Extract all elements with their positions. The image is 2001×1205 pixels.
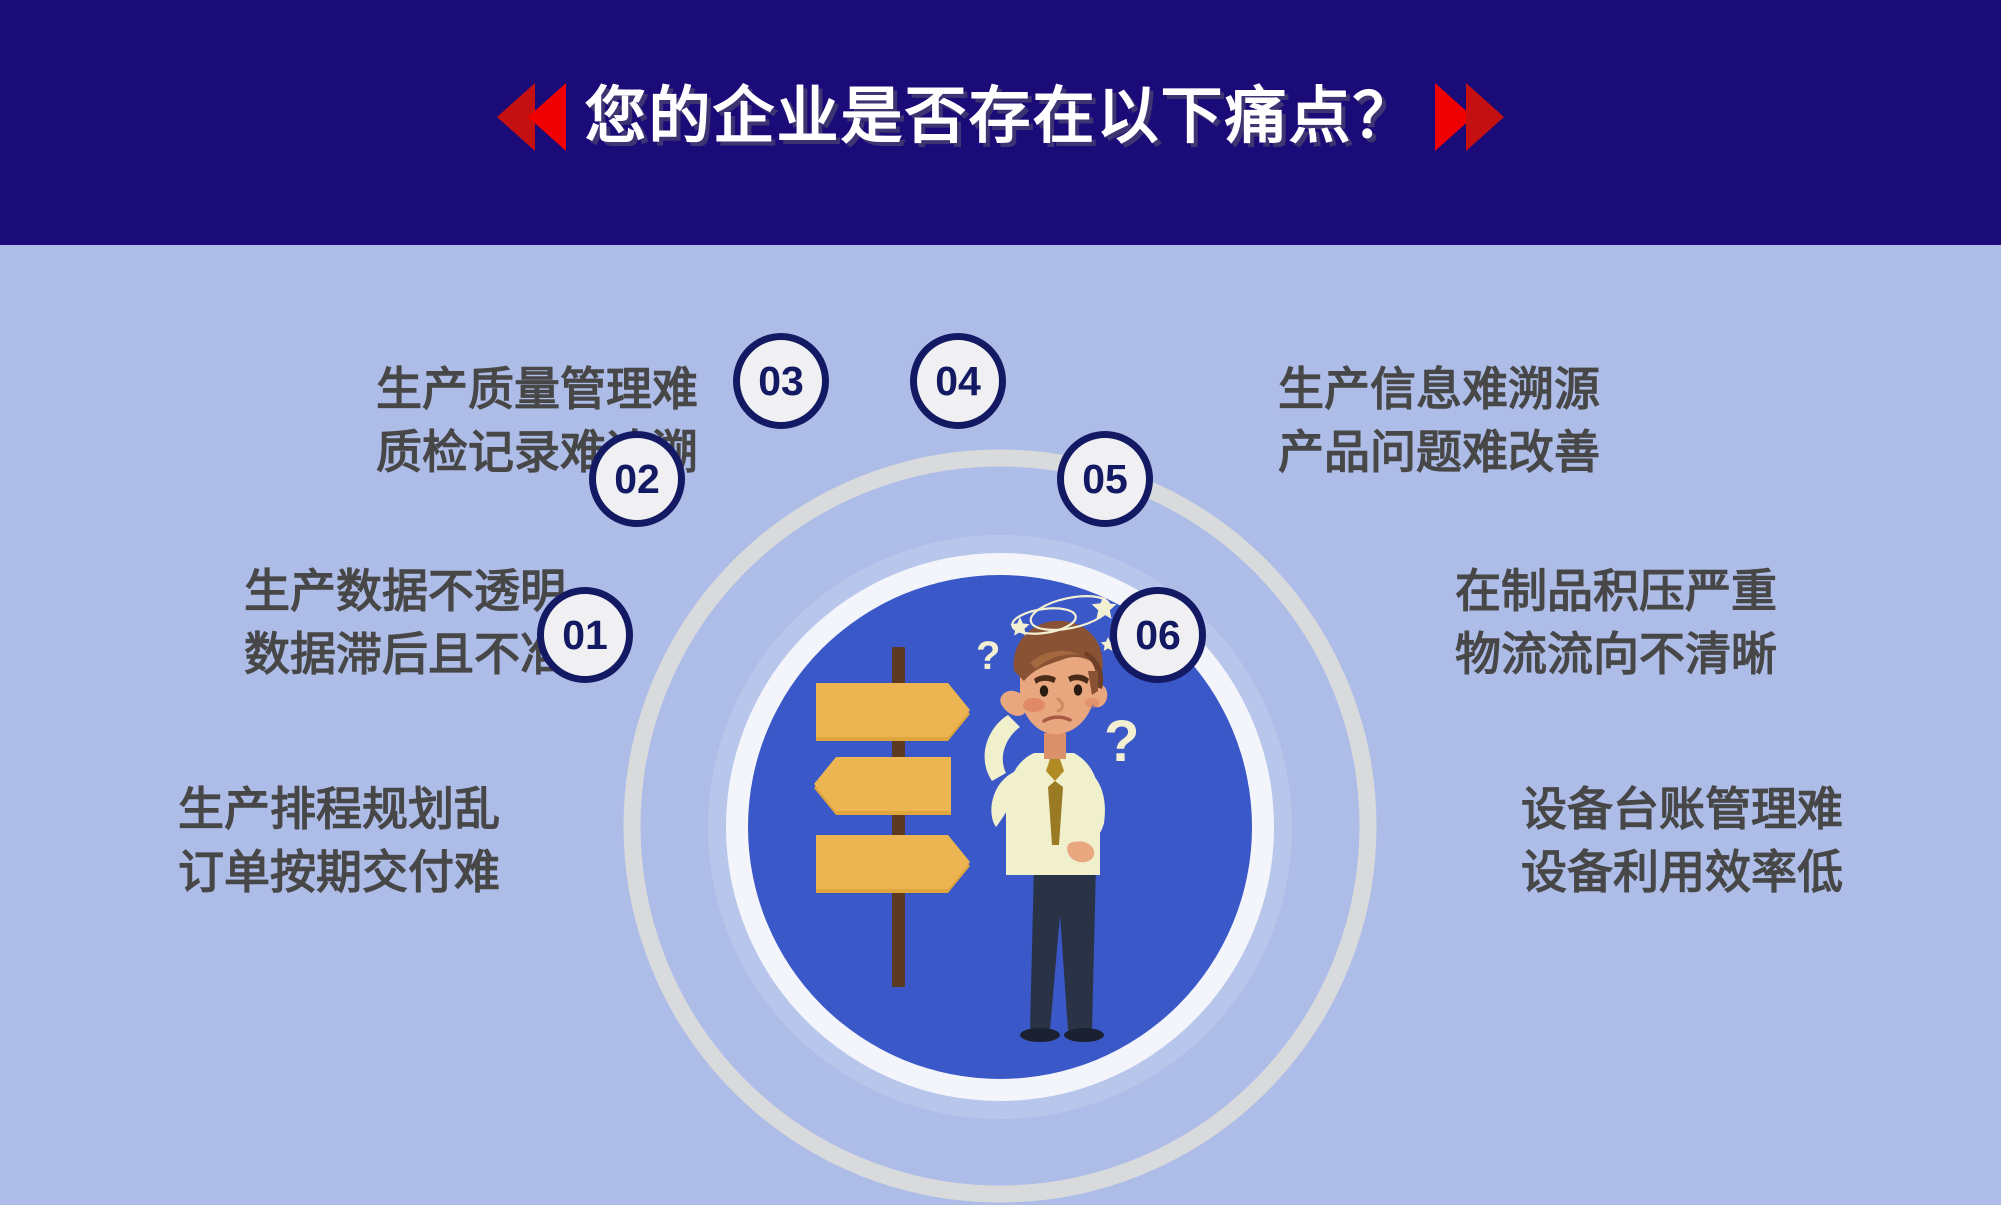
page-title: 您的企业是否存在以下痛点？ — [584, 86, 1416, 148]
double-chevron-right-icon — [1435, 83, 1504, 151]
pain-point-label-06: 设备台账管理难 设备利用效率低 — [1521, 778, 1843, 903]
circular-diagram: ? ? 01 02 03 04 05 06 — [560, 380, 1440, 1180]
signpost-arrow-top — [816, 683, 970, 741]
pain-point-line-1: 设备台账管理难 — [1521, 778, 1843, 841]
pain-point-line-1: 生产数据不透明 — [244, 560, 566, 623]
signpost-arrow-middle — [814, 757, 951, 815]
signpost-arrow-bottom — [816, 835, 970, 893]
step-badge-05[interactable]: 05 — [1057, 431, 1153, 527]
pain-point-line-2: 物流流向不清晰 — [1455, 623, 1777, 686]
dizzy-swirl-icon — [1011, 590, 1113, 637]
double-chevron-left-icon — [497, 83, 566, 151]
pain-point-line-2: 订单按期交付难 — [178, 841, 500, 904]
pain-point-line-1: 在制品积压严重 — [1455, 560, 1777, 623]
header-bar: 您的企业是否存在以下痛点？ — [0, 0, 2001, 245]
question-mark-icon: ? — [976, 634, 1000, 678]
title-group: 您的企业是否存在以下痛点？ — [0, 62, 2001, 172]
question-mark-icon: ? — [1104, 709, 1139, 774]
pain-point-label-05: 在制品积压严重 物流流向不清晰 — [1455, 560, 1777, 685]
pain-point-label-02: 生产数据不透明 数据滞后且不准 — [244, 560, 566, 685]
pain-point-line-2: 数据滞后且不准 — [244, 623, 566, 686]
pain-point-label-01: 生产排程规划乱 订单按期交付难 — [178, 778, 500, 903]
step-badge-04[interactable]: 04 — [910, 333, 1006, 429]
step-badge-03[interactable]: 03 — [733, 333, 829, 429]
pain-point-line-1: 生产排程规划乱 — [178, 778, 500, 841]
step-badge-02[interactable]: 02 — [589, 431, 685, 527]
slide-root: 您的企业是否存在以下痛点？ 生产质量管理难 质检记录难追溯 生产数据不透明 数据… — [0, 0, 2001, 1205]
pain-point-line-2: 设备利用效率低 — [1521, 841, 1843, 904]
step-badge-06[interactable]: 06 — [1110, 587, 1206, 683]
step-badge-01[interactable]: 01 — [537, 587, 633, 683]
